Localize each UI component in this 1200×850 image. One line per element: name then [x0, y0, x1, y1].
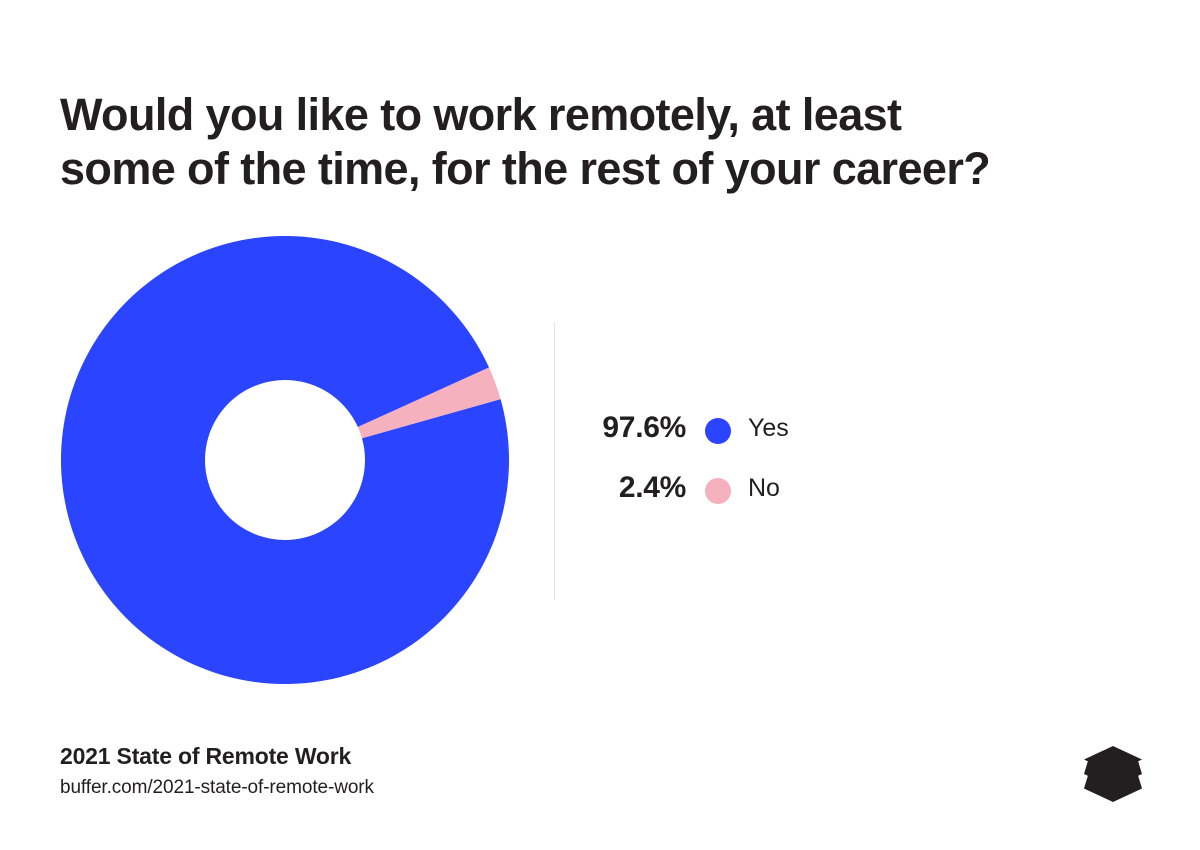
legend-item-yes[interactable]: 97.6% Yes — [560, 406, 920, 466]
donut-slice-yes[interactable] — [61, 236, 509, 684]
footer-url[interactable]: buffer.com/2021-state-of-remote-work — [60, 776, 760, 800]
donut-chart — [0, 0, 560, 850]
buffer-layers-icon — [1082, 744, 1144, 804]
legend-percent-yes: 97.6% — [560, 411, 686, 445]
legend-item-no[interactable]: 2.4% No — [560, 466, 920, 526]
chart-canvas: Would you like to work remotely, at leas… — [0, 0, 1200, 850]
legend-divider — [554, 322, 555, 600]
legend-percent-no: 2.4% — [560, 471, 686, 505]
donut-chart-svg — [55, 230, 515, 690]
legend-dot-yes-icon — [705, 418, 731, 444]
legend-label-no: No — [748, 474, 780, 503]
legend-label-yes: Yes — [748, 414, 789, 443]
legend-dot-no-icon — [705, 478, 731, 504]
footer: 2021 State of Remote Work buffer.com/202… — [60, 742, 760, 800]
chart-legend: 97.6% Yes 2.4% No — [560, 406, 920, 526]
footer-report-title: 2021 State of Remote Work — [60, 742, 760, 770]
